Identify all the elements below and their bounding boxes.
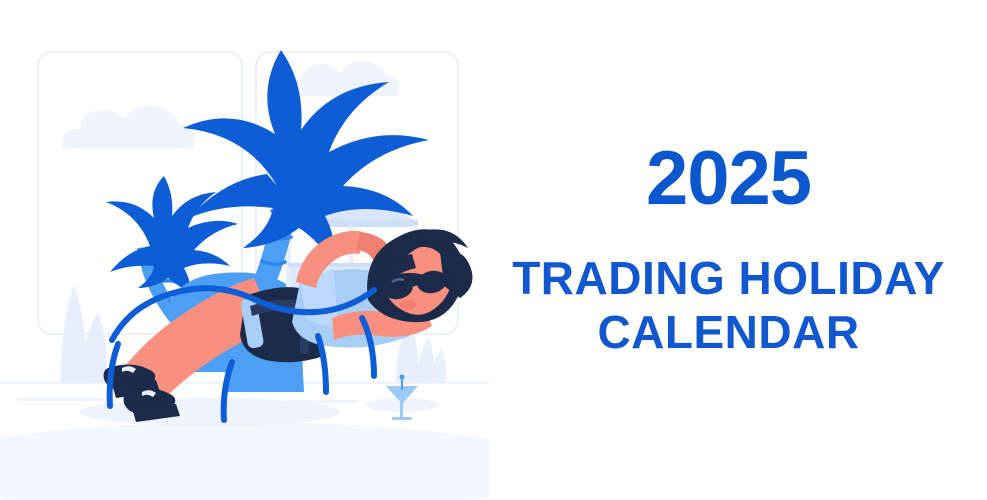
- cloud-right: [288, 61, 399, 96]
- ground-shadow: [0, 398, 490, 500]
- title-line-two: CALENDAR: [597, 305, 859, 359]
- trading-holiday-calendar-banner: 2025 TRADING HOLIDAY CALENDAR: [0, 0, 987, 500]
- cloud-left: [62, 106, 194, 149]
- beach-vacation-illustration: [0, 0, 490, 500]
- title-line-one: TRADING HOLIDAY: [512, 251, 945, 305]
- headline-text-block: 2025 TRADING HOLIDAY CALENDAR: [470, 0, 987, 500]
- year-heading: 2025: [646, 141, 811, 217]
